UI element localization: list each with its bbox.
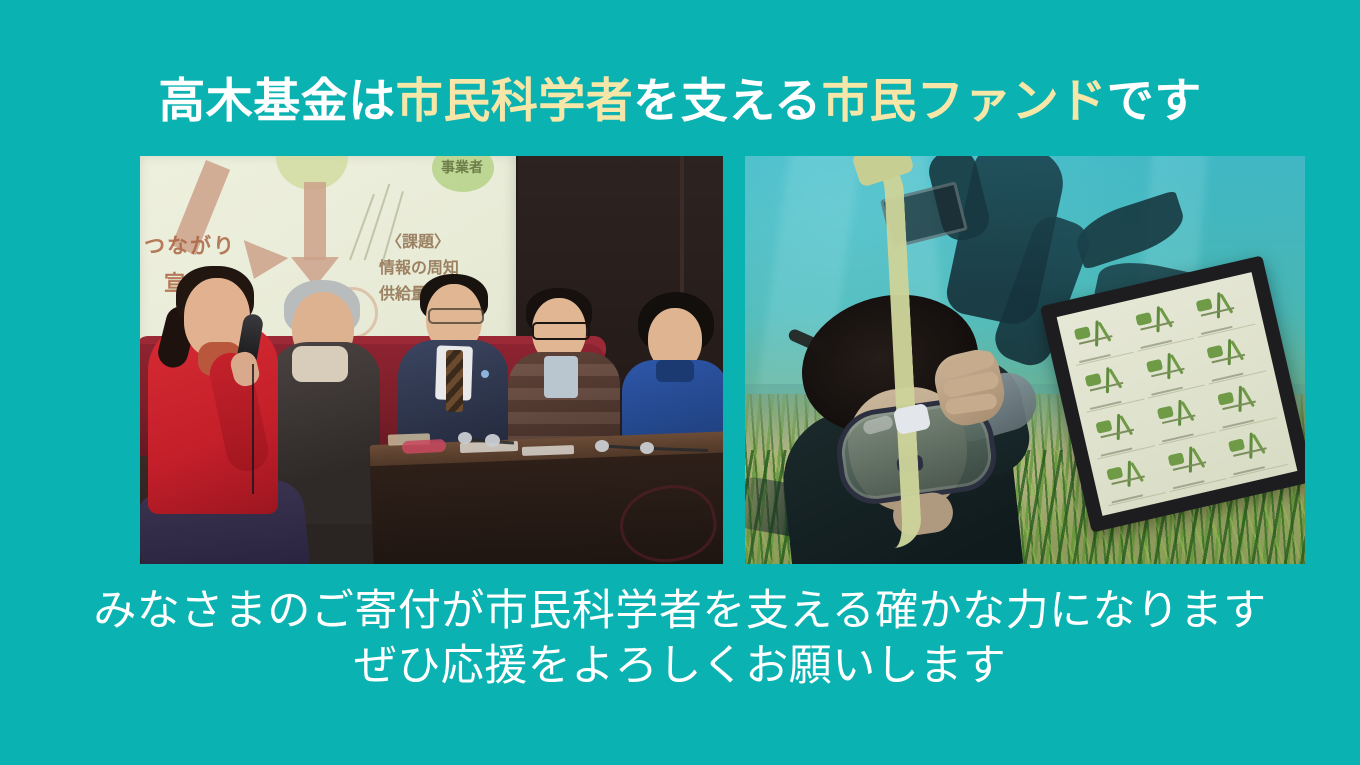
- title-segment-1: 高木基金は: [158, 74, 396, 129]
- slide-leader-line: [349, 194, 375, 260]
- slide-text-kadai: 〈課題〉: [386, 228, 450, 252]
- panelist-3-glasses: [428, 308, 484, 324]
- slate-species-cell: [1149, 389, 1216, 445]
- table-mic-head: [458, 432, 472, 444]
- title-segment-2-highlight: 市民科学者: [396, 74, 634, 129]
- slide-arrow-2-shaft: [304, 182, 326, 260]
- slate-species-cell: [1077, 357, 1144, 413]
- page-title: 高木基金は市民科学者を支える市民ファンドです: [0, 73, 1360, 132]
- photo-underwater-survey: [745, 156, 1305, 564]
- table-paper: [522, 445, 574, 456]
- panelist-5-collar: [656, 360, 694, 382]
- title-segment-4-highlight: 市民ファンド: [822, 74, 1107, 129]
- slide-root: 高木基金は市民科学者を支える市民ファンドです 事業者 つながり 宣伝力 〈課題〉…: [0, 0, 1360, 765]
- slate-species-cell: [1188, 282, 1255, 338]
- slate-species-cell: [1127, 296, 1194, 352]
- slate-species-cell: [1138, 343, 1205, 399]
- slate-face: [1057, 272, 1298, 516]
- slate-species-grid: [1066, 282, 1288, 507]
- slate-species-cell: [1160, 436, 1227, 492]
- donation-message-line-1: みなさまのご寄付が市民科学者を支える確かな力になります: [0, 584, 1360, 639]
- slate-species-cell: [1210, 375, 1277, 431]
- slate-species-cell: [1099, 450, 1166, 506]
- table-mic-head: [595, 440, 609, 452]
- panelist-4-glasses: [532, 322, 590, 340]
- title-segment-5: です: [1107, 74, 1202, 129]
- donation-message-line-2: ぜひ応援をよろしくお願いします: [0, 639, 1360, 694]
- panelist-3-tie: [446, 350, 463, 412]
- table-mic-head: [640, 442, 654, 454]
- microphone-cord: [252, 364, 254, 494]
- table-mic-head: [485, 434, 500, 447]
- slide-text-tsunagari: つながり: [144, 230, 236, 260]
- panelist-3-lapel-pin: [481, 370, 489, 378]
- slate-species-cell: [1221, 422, 1288, 478]
- donation-message: みなさまのご寄付が市民科学者を支える確かな力になります ぜひ応援をよろしくお願い…: [0, 584, 1360, 694]
- slate-species-cell: [1199, 328, 1266, 384]
- panelist-2-collar: [292, 346, 348, 382]
- table-flower-arrangement: [402, 439, 447, 454]
- slate-species-cell: [1066, 310, 1133, 366]
- slate-species-cell: [1088, 403, 1155, 459]
- slide-badge-label: 事業者: [441, 157, 483, 177]
- photo-panel-discussion: 事業者 つながり 宣伝力 〈課題〉 情報の周知 供給量確保: [140, 156, 723, 564]
- title-segment-3: を支える: [633, 74, 822, 129]
- panelist-4-shirt: [544, 356, 578, 398]
